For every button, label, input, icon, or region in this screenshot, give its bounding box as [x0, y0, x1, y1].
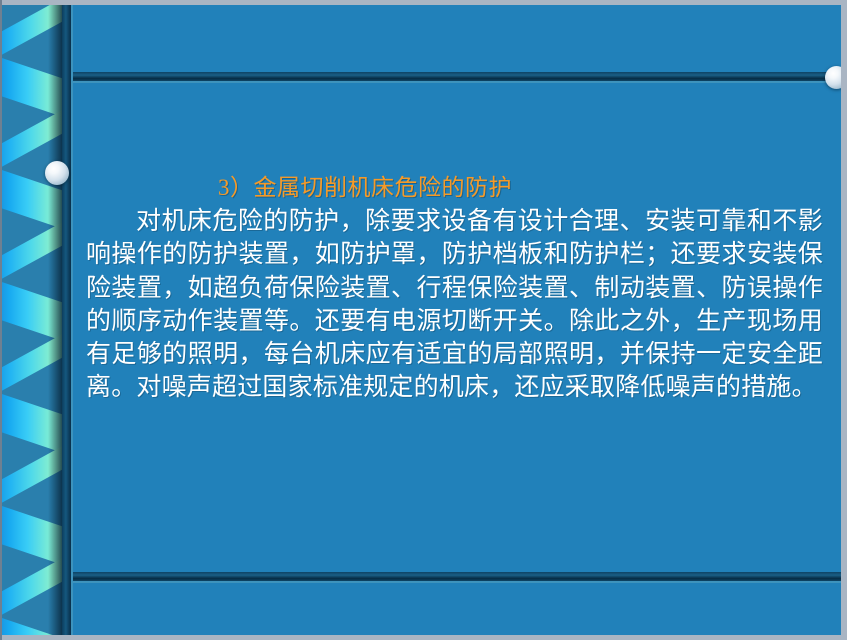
slide-body-text: 对机床危险的防护，除要求设备有设计合理、安装可靠和不影响操作的防护装置，如防护罩… — [86, 205, 831, 405]
bullet-sphere-right — [825, 66, 847, 89]
slide-content: 3）金属切削机床危险的防护 对机床危险的防护，除要求设备有设计合理、安装可靠和不… — [86, 90, 831, 560]
frame-edge-bottom — [0, 635, 847, 640]
slide-heading: 3）金属切削机床危险的防护 — [86, 174, 831, 201]
horizontal-rule-bottom — [62, 572, 847, 581]
vertical-rule-highlight — [71, 0, 73, 640]
horizontal-rule-top — [62, 72, 847, 81]
presentation-slide: 3）金属切削机床危险的防护 对机床危险的防护，除要求设备有设计合理、安装可靠和不… — [0, 0, 847, 640]
frame-edge-top — [0, 0, 847, 5]
bullet-sphere-left — [45, 161, 69, 185]
ribbon-inner-shadow — [48, 0, 62, 640]
zigzag-ribbon-band — [0, 0, 62, 640]
frame-edge-right — [841, 0, 847, 640]
